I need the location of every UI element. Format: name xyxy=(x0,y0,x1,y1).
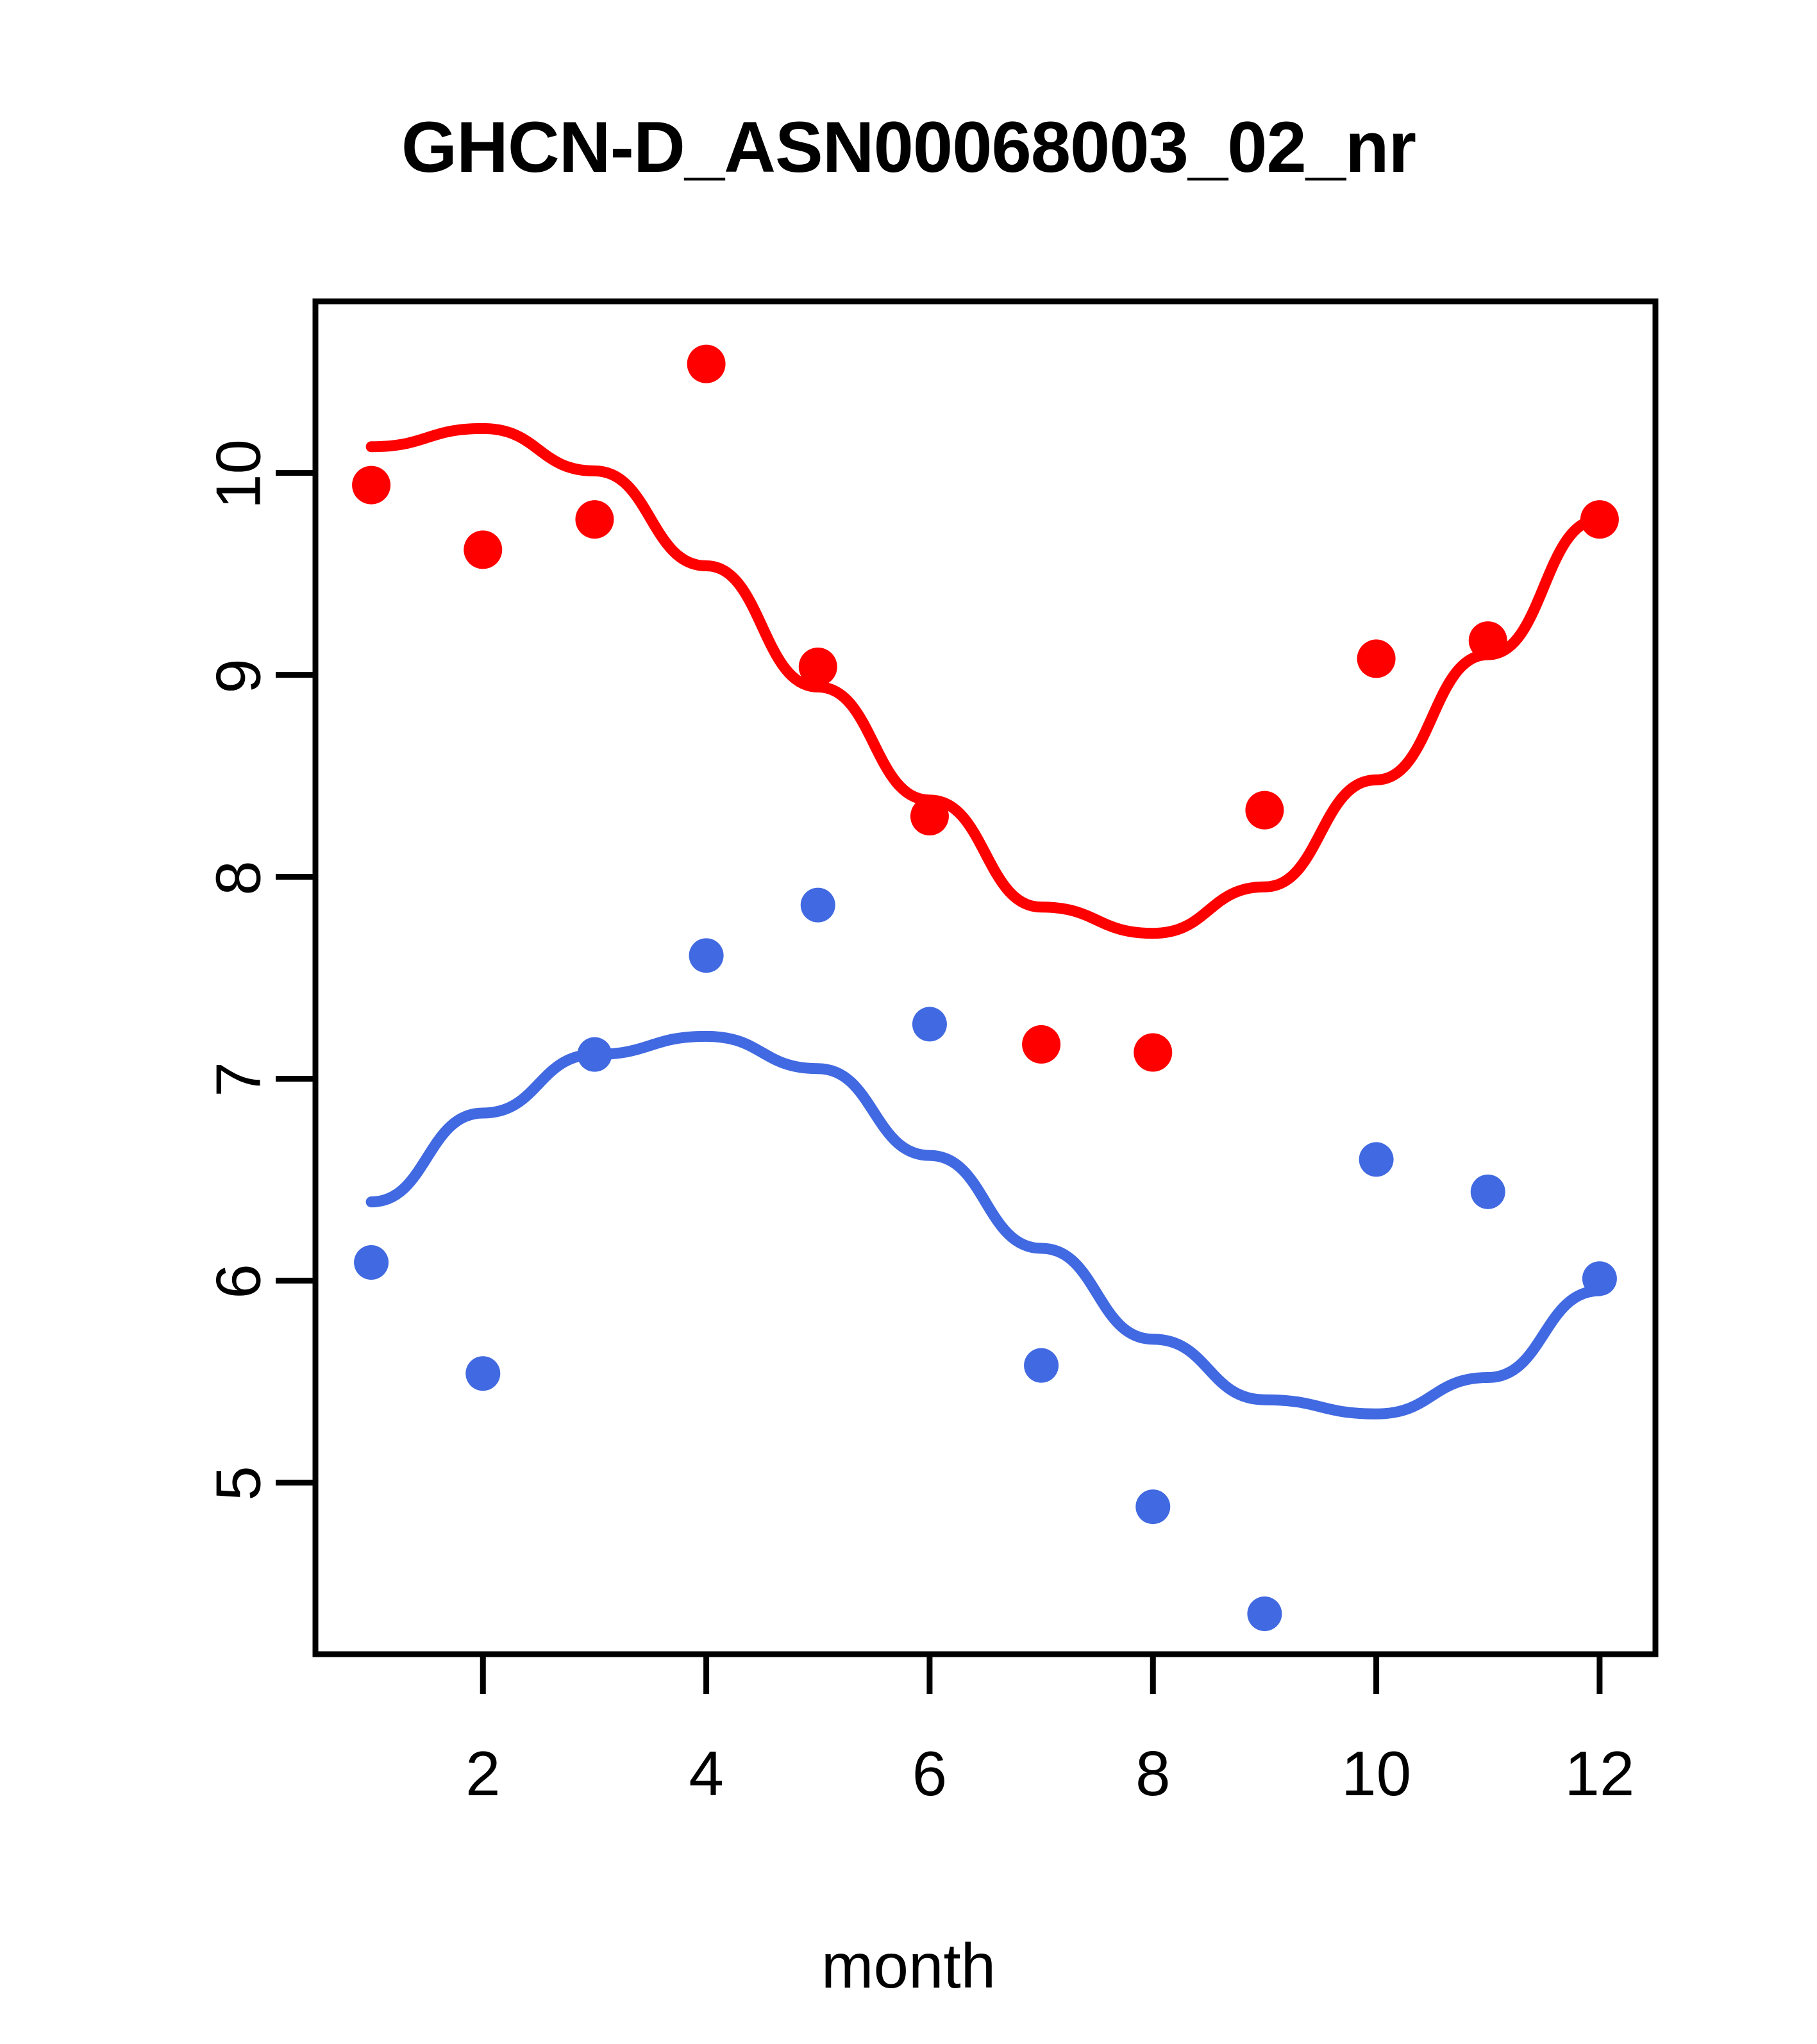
chart-plot-area: 24681012 5678910 xyxy=(0,0,1817,2044)
x-tick-label: 12 xyxy=(1564,1738,1634,1810)
plot-frame xyxy=(315,301,1655,1654)
data-point-red-points xyxy=(1357,639,1396,678)
data-point-blue-points xyxy=(465,1356,500,1391)
data-point-red-points xyxy=(687,345,726,383)
x-tick-label: 6 xyxy=(912,1738,948,1810)
y-tick-label: 10 xyxy=(203,429,275,519)
data-point-blue-points xyxy=(801,888,835,923)
y-tick-label: 9 xyxy=(203,631,275,721)
data-point-red-points xyxy=(1022,1025,1060,1064)
data-point-red-points xyxy=(464,530,502,569)
data-point-blue-points xyxy=(1135,1489,1170,1524)
data-point-red-points xyxy=(1580,500,1619,539)
data-point-blue-points xyxy=(1024,1348,1059,1383)
chart-svg xyxy=(0,0,1817,2044)
data-point-blue-points xyxy=(689,938,724,973)
y-tick-label: 7 xyxy=(203,1035,275,1125)
y-tick-label: 5 xyxy=(203,1439,275,1529)
x-tick-label: 2 xyxy=(465,1738,501,1810)
y-axis-ticks xyxy=(276,473,315,1483)
data-point-red-points xyxy=(1245,791,1284,830)
x-tick-label: 10 xyxy=(1341,1738,1411,1810)
data-point-blue-points xyxy=(577,1037,612,1072)
data-point-blue-points xyxy=(1359,1142,1394,1177)
x-axis-title: month xyxy=(0,1930,1817,2002)
data-point-red-points xyxy=(910,797,949,835)
data-point-red-points xyxy=(1134,1034,1172,1072)
x-tick-label: 4 xyxy=(689,1738,724,1810)
data-point-blue-points xyxy=(1247,1596,1282,1631)
data-point-blue-points xyxy=(1582,1261,1617,1296)
data-point-blue-points xyxy=(1471,1175,1505,1209)
y-tick-label: 6 xyxy=(203,1237,275,1327)
series-lines xyxy=(371,428,1600,1414)
x-axis-ticks xyxy=(483,1654,1600,1694)
series-points xyxy=(352,345,1619,1631)
data-point-blue-points xyxy=(912,1007,947,1041)
data-point-red-points xyxy=(352,466,390,505)
y-tick-label: 8 xyxy=(203,833,275,923)
data-point-blue-points xyxy=(354,1245,389,1280)
series-line-blue-smooth-line xyxy=(371,1036,1600,1414)
data-point-red-points xyxy=(1469,621,1507,660)
data-point-red-points xyxy=(799,648,837,686)
x-tick-label: 8 xyxy=(1135,1738,1171,1810)
data-point-red-points xyxy=(575,500,614,539)
series-line-red-smooth-line xyxy=(371,428,1600,933)
figure-canvas: GHCN-D_ASN00068003_02_nr 24681012 567891… xyxy=(0,0,1817,2044)
